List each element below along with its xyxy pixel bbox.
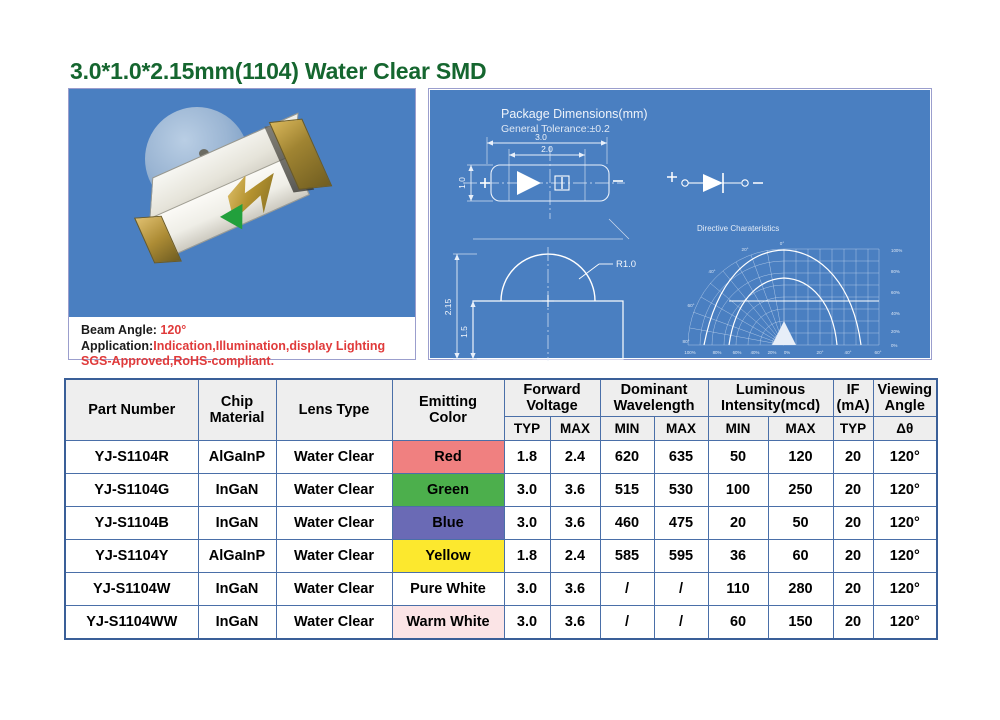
svg-text:40°: 40°	[709, 269, 716, 274]
package-drawing-svg: 3.0 2.0 1.0	[429, 89, 933, 361]
cell-emitting: Warm White	[392, 606, 504, 639]
th-viewing-angle: Viewing Angle	[873, 379, 937, 417]
beam-angle-label: Beam Angle:	[81, 323, 160, 337]
th-delta-theta: Δθ	[873, 417, 937, 441]
cell-chip: InGaN	[198, 606, 276, 639]
cell-vf-max: 2.4	[550, 441, 600, 474]
cell-chip: AlGaInP	[198, 441, 276, 474]
table-row: YJ-S1104WWInGaNWater ClearWarm White3.03…	[65, 606, 937, 639]
cell-part: YJ-S1104W	[65, 573, 198, 606]
cell-lens: Water Clear	[276, 441, 392, 474]
smd-led-illustration	[121, 101, 361, 301]
cell-lens: Water Clear	[276, 606, 392, 639]
cell-angle: 120°	[873, 507, 937, 540]
cell-if-typ: 20	[833, 606, 873, 639]
cell-wl-max: 530	[654, 474, 708, 507]
svg-text:80%: 80%	[713, 350, 722, 355]
cell-wl-max: /	[654, 606, 708, 639]
svg-text:40%: 40%	[751, 350, 760, 355]
cell-if-typ: 20	[833, 507, 873, 540]
cell-lens: Water Clear	[276, 507, 392, 540]
cell-lens: Water Clear	[276, 573, 392, 606]
svg-text:20%: 20%	[891, 329, 900, 334]
svg-text:40°: 40°	[845, 350, 852, 355]
cell-iv-min: 36	[708, 540, 768, 573]
circuit-symbol	[667, 172, 763, 193]
cell-if-typ: 20	[833, 441, 873, 474]
svg-text:20%: 20%	[768, 350, 777, 355]
th-dominant-wavelength: Dominant Wavelength	[600, 379, 708, 417]
beam-angle-value: 120°	[160, 323, 186, 337]
th-wl-min: MIN	[600, 417, 654, 441]
directive-characteristics-chart: Directive Charateristics	[683, 224, 903, 361]
cell-lens: Water Clear	[276, 540, 392, 573]
cell-wl-max: 635	[654, 441, 708, 474]
table-head: Part Number Chip Material Lens Type Emit…	[65, 379, 937, 441]
cell-if-typ: 20	[833, 540, 873, 573]
table-row: YJ-S1104BInGaNWater ClearBlue3.03.646047…	[65, 507, 937, 540]
th-lens-type: Lens Type	[276, 379, 392, 441]
application-line: Application:Indication,Illumination,disp…	[81, 339, 415, 355]
table-body: YJ-S1104RAlGaInPWater ClearRed1.82.46206…	[65, 441, 937, 639]
th-iv-max: MAX	[768, 417, 833, 441]
cell-part: YJ-S1104Y	[65, 540, 198, 573]
cell-wl-min: 515	[600, 474, 654, 507]
dim-total-height: 2.15	[443, 298, 453, 315]
cell-angle: 120°	[873, 540, 937, 573]
th-wl-max: MAX	[654, 417, 708, 441]
th-emitting-color: Emitting Color	[392, 379, 504, 441]
cell-emitting: Yellow	[392, 540, 504, 573]
cell-vf-typ: 3.0	[504, 573, 550, 606]
svg-text:100%: 100%	[891, 248, 902, 253]
cell-lens: Water Clear	[276, 474, 392, 507]
certification-line: SGS-Approved,RoHS-compliant.	[81, 354, 415, 370]
cell-emitting: Red	[392, 441, 504, 474]
cell-iv-max: 50	[768, 507, 833, 540]
application-label: Application:	[81, 339, 153, 353]
cell-vf-typ: 3.0	[504, 606, 550, 639]
svg-text:60°: 60°	[875, 350, 882, 355]
cell-iv-max: 120	[768, 441, 833, 474]
table-row: YJ-S1104GInGaNWater ClearGreen3.03.65155…	[65, 474, 937, 507]
cell-angle: 120°	[873, 573, 937, 606]
svg-text:20°: 20°	[817, 350, 824, 355]
cell-part: YJ-S1104R	[65, 441, 198, 474]
table-header-row-group: Part Number Chip Material Lens Type Emit…	[65, 379, 937, 417]
cell-wl-min: /	[600, 573, 654, 606]
cell-iv-min: 60	[708, 606, 768, 639]
product-photo	[69, 89, 415, 317]
cell-emitting: Green	[392, 474, 504, 507]
cell-part: YJ-S1104B	[65, 507, 198, 540]
cell-wl-max: /	[654, 573, 708, 606]
dim-width-inner: 2.0	[541, 144, 553, 154]
th-iv-min: MIN	[708, 417, 768, 441]
cell-angle: 120°	[873, 606, 937, 639]
th-vf-typ: TYP	[504, 417, 550, 441]
svg-text:100%: 100%	[684, 350, 695, 355]
cell-vf-max: 3.6	[550, 606, 600, 639]
svg-text:60%: 60%	[891, 290, 900, 295]
package-drawing-panel: Package Dimensions(mm) General Tolerance…	[428, 88, 932, 360]
cell-angle: 120°	[873, 441, 937, 474]
cell-angle: 120°	[873, 474, 937, 507]
table-row: YJ-S1104WInGaNWater ClearPure White3.03.…	[65, 573, 937, 606]
cell-emitting: Pure White	[392, 573, 504, 606]
cell-chip: InGaN	[198, 474, 276, 507]
th-vf-max: MAX	[550, 417, 600, 441]
cell-wl-min: /	[600, 606, 654, 639]
cell-iv-min: 20	[708, 507, 768, 540]
cell-vf-typ: 1.8	[504, 540, 550, 573]
diode-triangle-icon	[517, 171, 541, 195]
product-photo-panel: Beam Angle: 120° Application:Indication,…	[68, 88, 416, 360]
cell-iv-max: 60	[768, 540, 833, 573]
cell-vf-max: 2.4	[550, 540, 600, 573]
svg-text:60%: 60%	[733, 350, 742, 355]
polar-chart-title: Directive Charateristics	[697, 224, 779, 233]
svg-text:40%: 40%	[891, 311, 900, 316]
svg-text:0%: 0%	[891, 343, 897, 348]
cell-part: YJ-S1104WW	[65, 606, 198, 639]
cell-chip: AlGaInP	[198, 540, 276, 573]
cell-wl-min: 460	[600, 507, 654, 540]
th-luminous-intensity: Luminous Intensity(mcd)	[708, 379, 833, 417]
th-if-typ: TYP	[833, 417, 873, 441]
dim-radius: R1.0	[616, 259, 636, 270]
dim-width-outer: 3.0	[535, 132, 547, 142]
cell-emitting: Blue	[392, 507, 504, 540]
cell-wl-min: 620	[600, 441, 654, 474]
page-title: 3.0*1.0*2.15mm(1104) Water Clear SMD	[70, 58, 486, 85]
cell-iv-min: 110	[708, 573, 768, 606]
photo-caption: Beam Angle: 120° Application:Indication,…	[69, 317, 415, 359]
cell-chip: InGaN	[198, 507, 276, 540]
application-value: Indication,Illumination,display Lighting	[153, 339, 385, 353]
cell-iv-min: 50	[708, 441, 768, 474]
specification-table: Part Number Chip Material Lens Type Emit…	[64, 378, 938, 640]
svg-text:0°: 0°	[780, 241, 785, 246]
th-if-ma: IF (mA)	[833, 379, 873, 417]
svg-text:60°: 60°	[688, 303, 695, 308]
cell-wl-max: 475	[654, 507, 708, 540]
cell-vf-typ: 3.0	[504, 507, 550, 540]
cell-iv-max: 280	[768, 573, 833, 606]
svg-text:0%: 0%	[784, 350, 790, 355]
table-row: YJ-S1104RAlGaInPWater ClearRed1.82.46206…	[65, 441, 937, 474]
cell-iv-min: 100	[708, 474, 768, 507]
svg-text:20°: 20°	[742, 247, 749, 252]
th-forward-voltage: Forward Voltage	[504, 379, 600, 417]
cell-iv-max: 150	[768, 606, 833, 639]
th-chip-material: Chip Material	[198, 379, 276, 441]
cell-chip: InGaN	[198, 573, 276, 606]
cell-vf-typ: 3.0	[504, 474, 550, 507]
cell-vf-typ: 1.8	[504, 441, 550, 474]
cell-if-typ: 20	[833, 573, 873, 606]
table-row: YJ-S1104YAlGaInPWater ClearYellow1.82.45…	[65, 540, 937, 573]
cell-vf-max: 3.6	[550, 474, 600, 507]
cell-if-typ: 20	[833, 474, 873, 507]
beam-angle-line: Beam Angle: 120°	[81, 323, 415, 339]
cell-iv-max: 250	[768, 474, 833, 507]
dim-body-height: 1.5	[459, 326, 469, 338]
cell-vf-max: 3.6	[550, 507, 600, 540]
th-part-number: Part Number	[65, 379, 198, 441]
cell-wl-max: 595	[654, 540, 708, 573]
datasheet-page: 3.0*1.0*2.15mm(1104) Water Clear SMD	[0, 0, 1000, 720]
cell-part: YJ-S1104G	[65, 474, 198, 507]
svg-text:80%: 80%	[891, 269, 900, 274]
cell-wl-min: 585	[600, 540, 654, 573]
svg-text:80°: 80°	[683, 339, 690, 344]
cell-vf-max: 3.6	[550, 573, 600, 606]
